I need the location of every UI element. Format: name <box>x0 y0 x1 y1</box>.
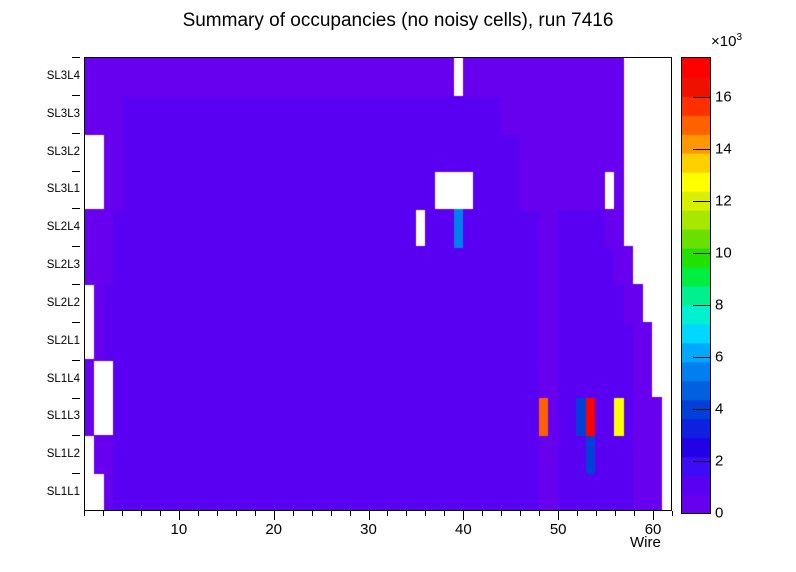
colorbar-tick <box>693 201 711 202</box>
y-axis-tick <box>72 322 80 323</box>
x-axis-title: Wire <box>630 534 661 551</box>
x-axis-minor-tick <box>406 511 407 516</box>
x-axis-minor-tick <box>84 511 85 516</box>
colorbar-tick-label: 2 <box>715 453 723 470</box>
x-axis-major-tick <box>179 511 180 520</box>
x-axis-minor-tick <box>634 511 635 516</box>
colorbar-tick-label: 10 <box>715 245 732 262</box>
y-axis: SL1L1SL1L2SL1L3SL1L4SL2L1SL2L2SL2L3SL2L4… <box>0 57 80 511</box>
colorbar-tick <box>693 305 711 306</box>
x-axis-tick-label: 10 <box>170 521 187 538</box>
y-axis-label-sl2l4: SL2L4 <box>8 221 80 233</box>
x-axis-minor-tick <box>672 511 673 516</box>
x-axis-minor-tick <box>596 511 597 516</box>
y-axis-label-sl3l1: SL3L1 <box>8 183 80 195</box>
plot-area <box>84 57 672 511</box>
x-axis: 102030405060 <box>84 511 672 555</box>
x-axis-major-tick <box>653 511 654 520</box>
x-axis-minor-tick <box>160 511 161 516</box>
x-axis-minor-tick <box>482 511 483 516</box>
y-axis-label-sl1l3: SL1L3 <box>8 410 80 422</box>
page-title: Summary of occupancies (no noisy cells),… <box>0 10 796 32</box>
x-axis-minor-tick <box>141 511 142 516</box>
x-axis-tick-label: 50 <box>550 521 567 538</box>
y-axis-tick <box>72 133 80 134</box>
colorbar-tick-label: 16 <box>715 89 732 106</box>
x-axis-minor-tick <box>331 511 332 516</box>
colorbar-tick <box>693 513 711 514</box>
x-axis-major-tick <box>558 511 559 520</box>
colorbar-tick-label: 0 <box>715 505 723 522</box>
x-axis-minor-tick <box>312 511 313 516</box>
y-axis-label-sl1l2: SL1L2 <box>8 448 80 460</box>
colorbar-tick-label: 14 <box>715 141 732 158</box>
x-axis-major-tick <box>274 511 275 520</box>
x-axis-tick-label: 40 <box>455 521 472 538</box>
x-axis-tick-label: 30 <box>360 521 377 538</box>
y-axis-label-sl1l1: SL1L1 <box>8 486 80 498</box>
x-axis-minor-tick <box>520 511 521 516</box>
x-axis-major-tick <box>369 511 370 520</box>
y-axis-label-sl3l3: SL3L3 <box>8 108 80 120</box>
colorbar-tick <box>693 97 711 98</box>
x-axis-minor-tick <box>217 511 218 516</box>
colorbar-exponent-label: ×103 <box>711 32 742 50</box>
colorbar-ticks: 0246810121416 <box>681 57 761 514</box>
y-axis-tick <box>72 95 80 96</box>
y-axis-label-sl1l4: SL1L4 <box>8 373 80 385</box>
x-axis-minor-tick <box>425 511 426 516</box>
colorbar-tick <box>693 409 711 410</box>
x-axis-minor-tick <box>103 511 104 516</box>
x-axis-minor-tick <box>501 511 502 516</box>
colorbar-tick-label: 6 <box>715 349 723 366</box>
y-axis-tick <box>72 398 80 399</box>
colorbar-tick <box>693 357 711 358</box>
y-axis-label-sl3l2: SL3L2 <box>8 146 80 158</box>
colorbar: 0246810121416 <box>681 57 711 514</box>
y-axis-tick <box>72 360 80 361</box>
x-axis-minor-tick <box>444 511 445 516</box>
colorbar-tick <box>693 253 711 254</box>
y-axis-tick <box>72 171 80 172</box>
y-axis-tick <box>72 246 80 247</box>
x-axis-minor-tick <box>615 511 616 516</box>
x-axis-minor-tick <box>255 511 256 516</box>
y-axis-tick <box>72 435 80 436</box>
x-axis-minor-tick <box>198 511 199 516</box>
chart-canvas-root: Summary of occupancies (no noisy cells),… <box>0 0 796 572</box>
x-axis-minor-tick <box>236 511 237 516</box>
heatmap-image <box>85 58 671 510</box>
y-axis-label-sl2l3: SL2L3 <box>8 259 80 271</box>
y-axis-label-sl3l4: SL3L4 <box>8 70 80 82</box>
x-axis-minor-tick <box>350 511 351 516</box>
x-axis-tick-label: 20 <box>265 521 282 538</box>
x-axis-minor-tick <box>577 511 578 516</box>
y-axis-tick <box>72 208 80 209</box>
colorbar-tick <box>693 461 711 462</box>
colorbar-tick-label: 12 <box>715 193 732 210</box>
y-axis-tick <box>72 57 80 58</box>
x-axis-minor-tick <box>293 511 294 516</box>
x-axis-minor-tick <box>387 511 388 516</box>
x-axis-major-tick <box>463 511 464 520</box>
y-axis-tick <box>72 284 80 285</box>
x-axis-minor-tick <box>122 511 123 516</box>
x-axis-minor-tick <box>539 511 540 516</box>
colorbar-tick-label: 4 <box>715 401 723 418</box>
colorbar-tick-label: 8 <box>715 297 723 314</box>
y-axis-label-sl2l1: SL2L1 <box>8 335 80 347</box>
y-axis-tick <box>72 473 80 474</box>
y-axis-label-sl2l2: SL2L2 <box>8 297 80 309</box>
colorbar-tick <box>693 149 711 150</box>
